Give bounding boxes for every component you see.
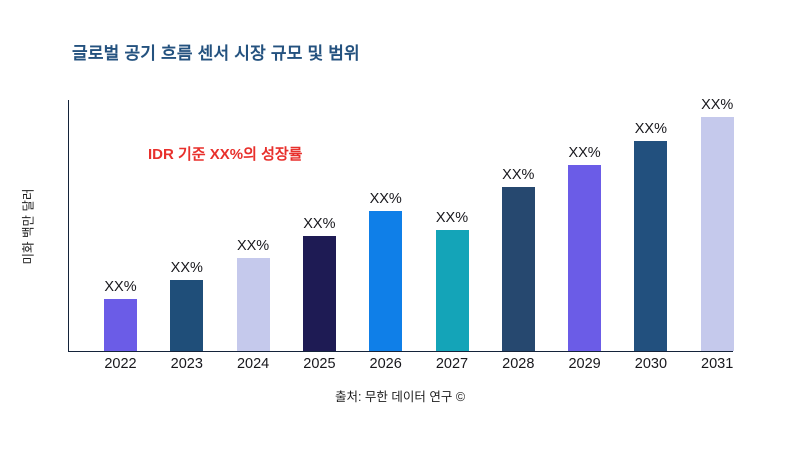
- x-tick-2022: 2022: [91, 356, 151, 372]
- plot-area: XX%XX%XX%XX%XX%XX%XX%XX%XX%XX%: [68, 100, 780, 352]
- bar-value-label: XX%: [237, 238, 269, 254]
- bar-group: XX%: [436, 230, 469, 351]
- bar-value-label: XX%: [635, 121, 667, 137]
- bar-2030[interactable]: [634, 141, 667, 351]
- bar-group: XX%: [237, 258, 270, 351]
- bar-group: XX%: [701, 117, 734, 351]
- page-title: 글로벌 공기 흐름 센서 시장 규모 및 범위: [72, 39, 360, 64]
- bar-2028[interactable]: [502, 187, 535, 351]
- x-tick-2029: 2029: [555, 356, 615, 372]
- y-axis-line: [68, 100, 69, 352]
- bar-2024[interactable]: [237, 258, 270, 351]
- bar-group: XX%: [170, 280, 203, 351]
- bar-group: XX%: [369, 211, 402, 351]
- bar-value-label: XX%: [502, 167, 534, 183]
- bar-2026[interactable]: [369, 211, 402, 351]
- chart-canvas: 글로벌 공기 흐름 센서 시장 규모 및 범위 미화 백만 달러 IDR 기준 …: [0, 0, 800, 450]
- bar-group: XX%: [303, 236, 336, 351]
- bar-2029[interactable]: [568, 165, 601, 351]
- bar-2022[interactable]: [104, 299, 137, 351]
- bar-group: XX%: [568, 165, 601, 351]
- bar-value-label: XX%: [104, 279, 136, 295]
- x-tick-2028: 2028: [488, 356, 548, 372]
- bar-group: XX%: [502, 187, 535, 351]
- y-axis-title: 미화 백만 달러: [14, 100, 40, 352]
- x-tick-2027: 2027: [422, 356, 482, 372]
- bar-value-label: XX%: [701, 97, 733, 113]
- bar-group: XX%: [104, 299, 137, 351]
- bar-2027[interactable]: [436, 230, 469, 351]
- x-tick-2025: 2025: [289, 356, 349, 372]
- y-axis-title-text: 미화 백만 달러: [18, 188, 37, 264]
- bar-2023[interactable]: [170, 280, 203, 351]
- bar-value-label: XX%: [436, 210, 468, 226]
- x-tick-2030: 2030: [621, 356, 681, 372]
- x-tick-2026: 2026: [356, 356, 416, 372]
- bar-value-label: XX%: [303, 216, 335, 232]
- bar-value-label: XX%: [568, 145, 600, 161]
- x-tick-2024: 2024: [223, 356, 283, 372]
- bar-2031[interactable]: [701, 117, 734, 351]
- bar-2025[interactable]: [303, 236, 336, 351]
- x-tick-2023: 2023: [157, 356, 217, 372]
- source-caption: 출처: 무한 데이터 연구 ©: [0, 386, 800, 405]
- x-axis-line: [68, 351, 733, 352]
- x-tick-2031: 2031: [687, 356, 747, 372]
- bar-value-label: XX%: [171, 260, 203, 276]
- bar-value-label: XX%: [370, 191, 402, 207]
- bar-group: XX%: [634, 141, 667, 351]
